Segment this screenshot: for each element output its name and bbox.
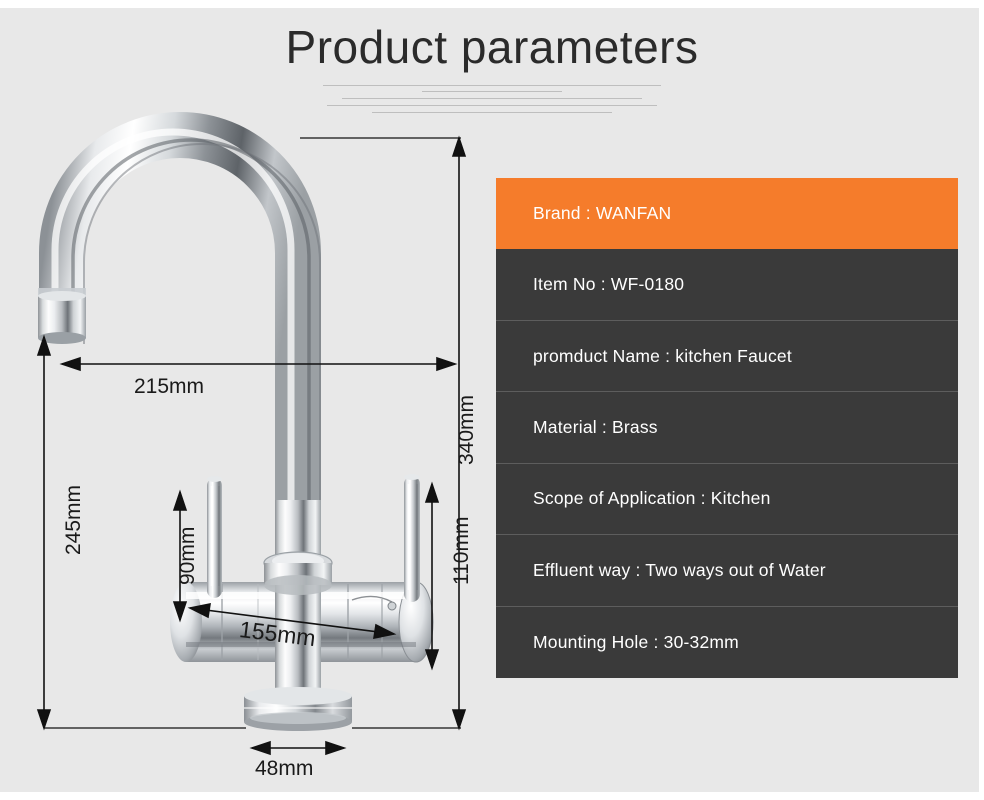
dimension-label-handle-right-height: 110mm bbox=[450, 517, 474, 585]
dimension-label-spout-reach: 215mm bbox=[134, 375, 204, 399]
spec-row-item-no: Item No : WF-0180 bbox=[496, 249, 958, 320]
dimension-label-handle-left-height: 90mm bbox=[176, 527, 200, 585]
dimension-label-spout-height: 245mm bbox=[62, 485, 86, 555]
spec-row-mounting-hole: Mounting Hole : 30-32mm bbox=[496, 607, 958, 678]
spec-row-product-name: promduct Name : kitchen Faucet bbox=[496, 321, 958, 392]
spec-row-text: Material : Brass bbox=[533, 417, 658, 438]
faucet-illustration bbox=[0, 0, 490, 800]
spec-row-text: Effluent way : Two ways out of Water bbox=[533, 560, 826, 581]
spec-row-brand: Brand : WANFAN bbox=[496, 178, 958, 249]
spec-row-text: Brand : WANFAN bbox=[533, 203, 671, 224]
spec-row-text: Mounting Hole : 30-32mm bbox=[533, 632, 739, 653]
dimension-label-base-diameter: 48mm bbox=[255, 757, 313, 781]
spec-row-scope-of-application: Scope of Application : Kitchen bbox=[496, 464, 958, 535]
spec-row-text: Item No : WF-0180 bbox=[533, 274, 684, 295]
dimension-label-total-height: 340mm bbox=[455, 395, 479, 465]
product-parameters-page: Product parameters bbox=[0, 0, 984, 800]
spec-row-text: Scope of Application : Kitchen bbox=[533, 488, 771, 509]
spec-table: Brand : WANFAN Item No : WF-0180 promduc… bbox=[496, 178, 958, 678]
spec-row-text: promduct Name : kitchen Faucet bbox=[533, 346, 792, 367]
spec-row-material: Material : Brass bbox=[496, 392, 958, 463]
spec-row-effluent-way: Effluent way : Two ways out of Water bbox=[496, 535, 958, 606]
faucet-diagram: 215mm 245mm 90mm 340mm 110mm 155mm 48mm bbox=[0, 0, 490, 800]
